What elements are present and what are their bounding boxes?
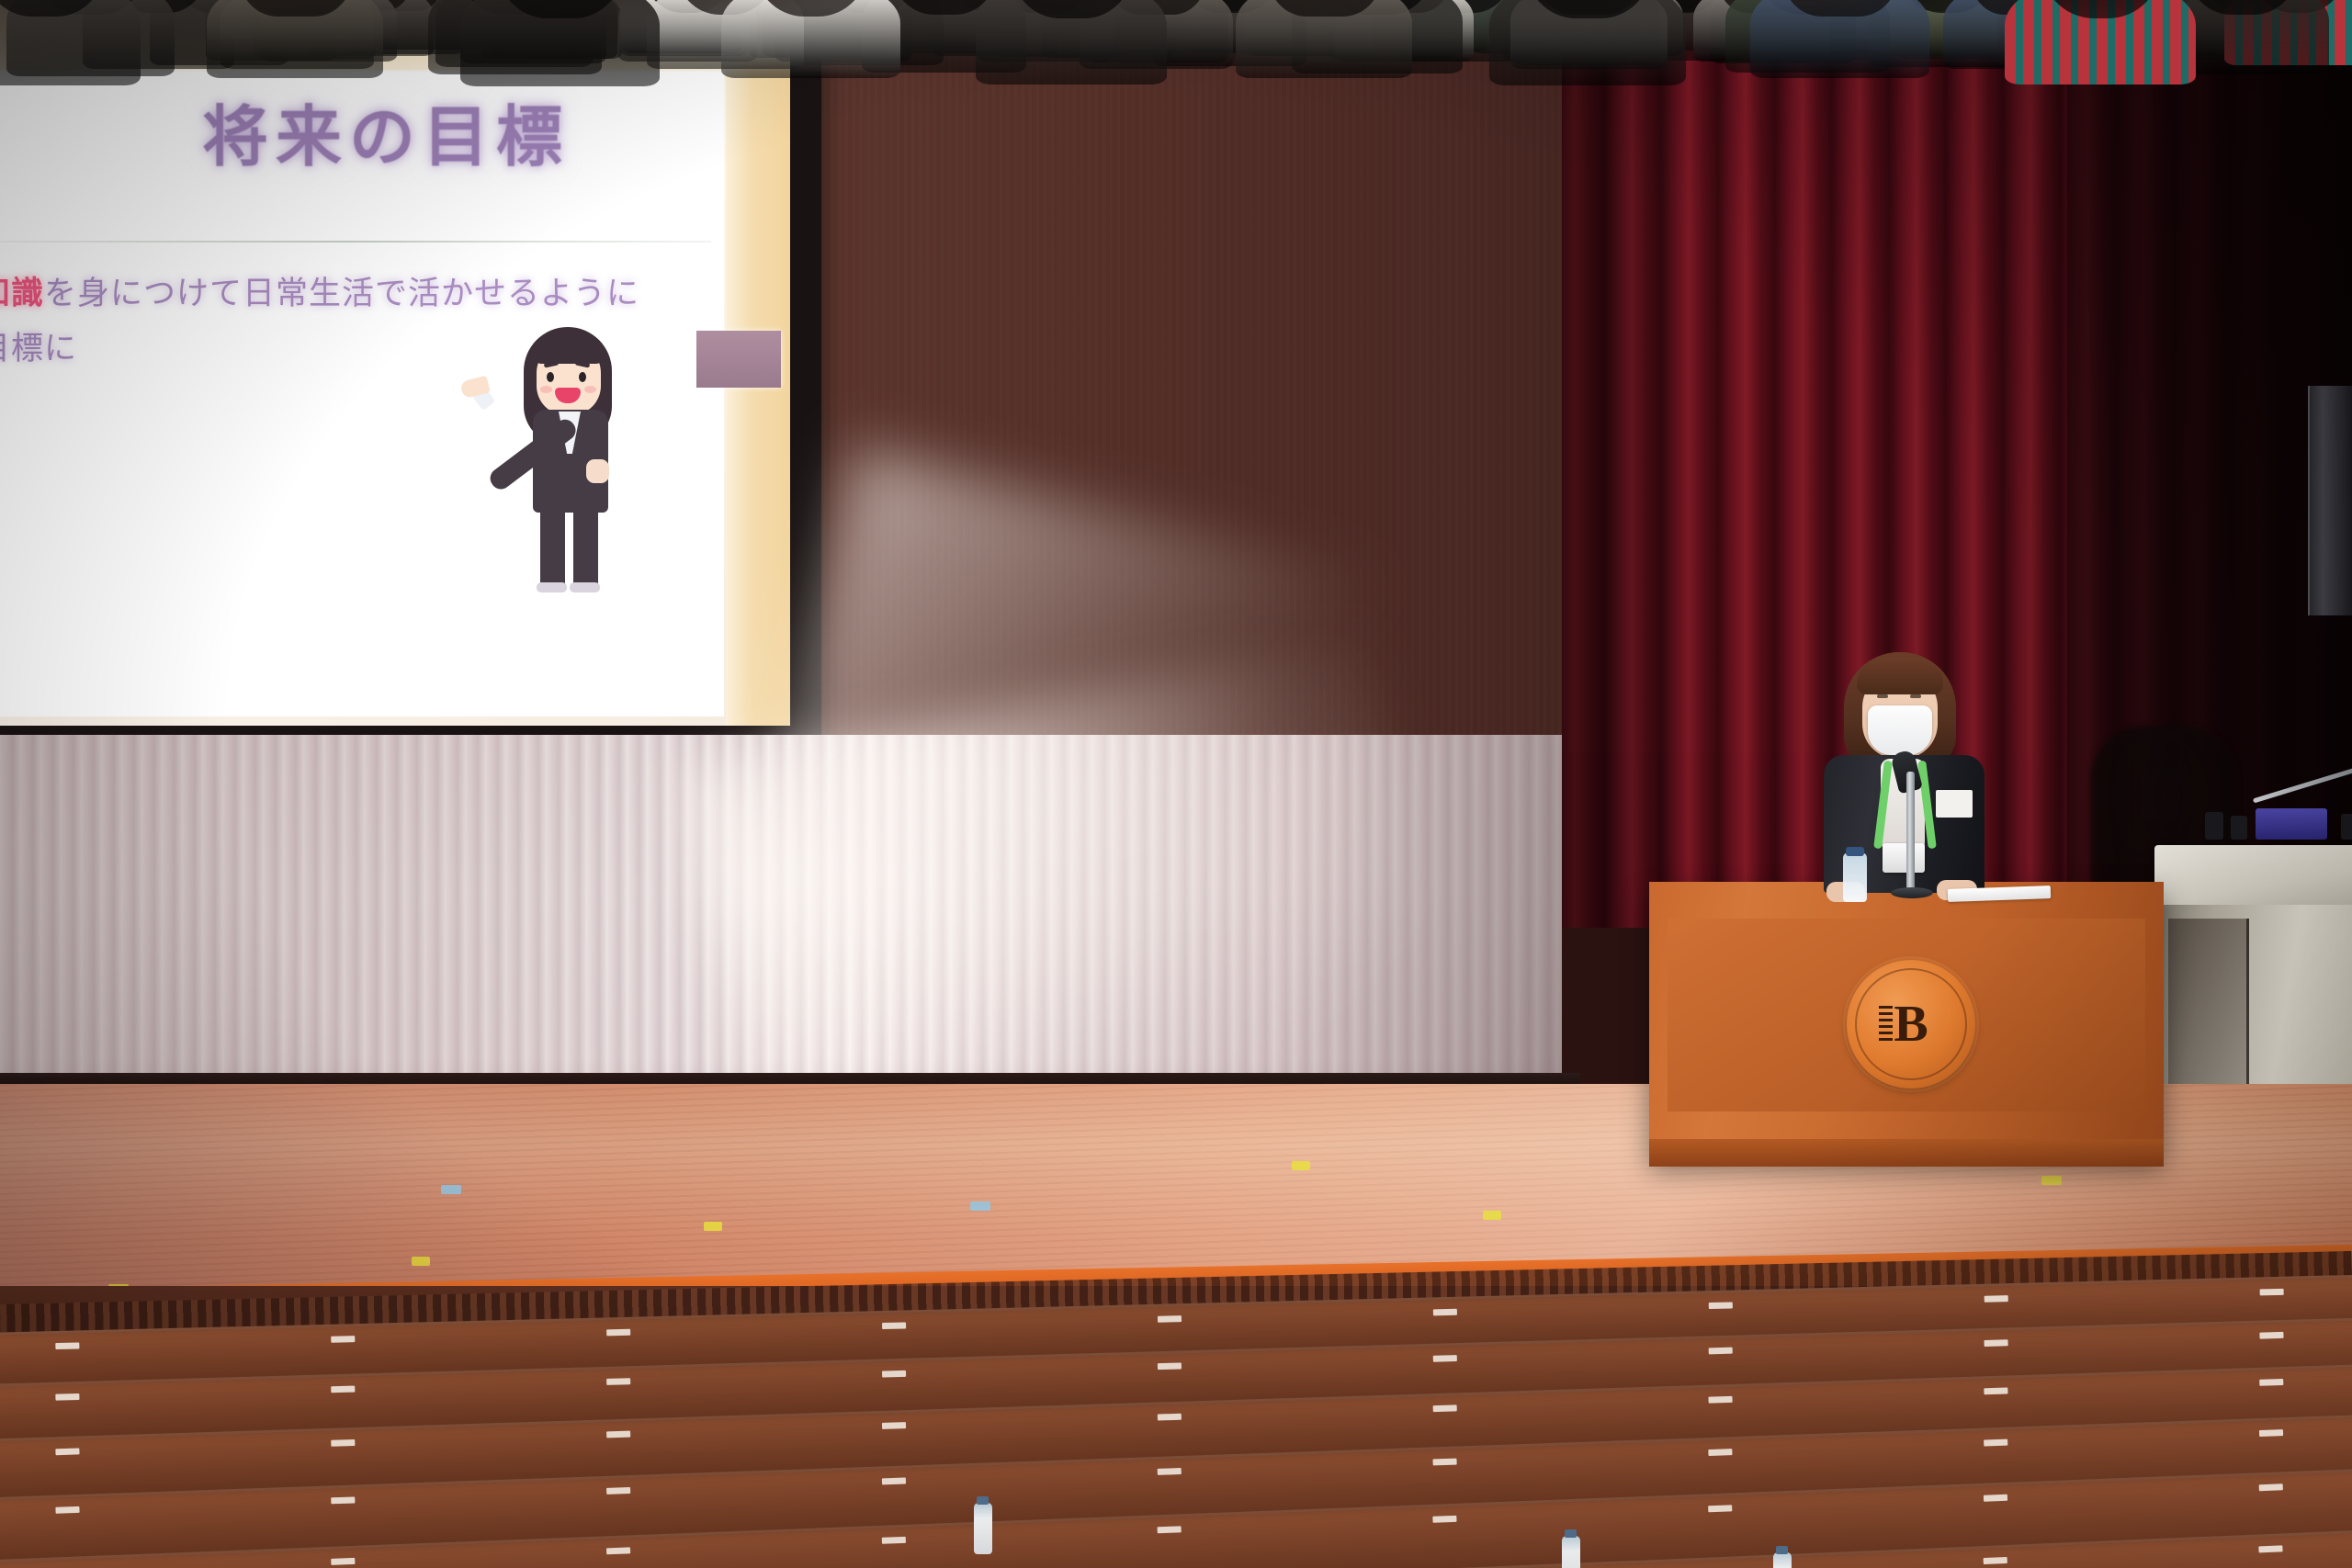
presenter-eye-right: [1910, 694, 1921, 698]
seat-number-tag: [1158, 1526, 1182, 1533]
projection-screen-frame: 将来の目標 の知識を身につけて日常生活で活かせるように を目標に: [0, 0, 821, 744]
seat-number-tag: [2259, 1379, 2283, 1386]
seat-number-tag: [882, 1322, 906, 1329]
audience-bottle-cap: [1565, 1529, 1577, 1538]
illustration-shoe-right: [570, 582, 600, 592]
seat-number-tag: [55, 1342, 79, 1349]
illustration-leg-left: [540, 505, 565, 588]
slide-body-line-1-rest: を身につけて日常生活で活かせるように: [44, 276, 639, 311]
av-lectern-top: [2154, 845, 2352, 908]
slide-divider-rule: [0, 241, 711, 243]
audience-water-bottle: [1773, 1552, 1792, 1568]
emblem-letter: B: [1894, 998, 1928, 1050]
floor-marker-blue-3: [970, 1201, 990, 1211]
illustration-shoe-left: [537, 582, 567, 592]
seat-number-tag: [1709, 1348, 1733, 1355]
illustration-eye-right: [579, 372, 586, 382]
av-lectern-glass-door[interactable]: [2168, 919, 2249, 1102]
seat-number-tag: [2259, 1332, 2283, 1339]
university-emblem: B: [1847, 960, 1975, 1089]
audience-bottle-cap: [977, 1496, 989, 1505]
seat-number-tag: [1984, 1557, 2007, 1564]
seat-number-tag: [1433, 1309, 1457, 1316]
seat-number-tag: [1432, 1516, 1456, 1523]
seat-number-tag: [1708, 1505, 1732, 1512]
microphone-base: [1891, 887, 1933, 898]
av-knob-1[interactable]: [2205, 812, 2223, 840]
seat-number-tag: [1984, 1339, 2007, 1347]
wall-speaker: [2308, 386, 2352, 615]
seat-number-tag: [331, 1496, 355, 1504]
seat-number-tag: [1709, 1302, 1733, 1309]
seat-number-tag: [331, 1439, 355, 1447]
podium-water-bottle: [1843, 852, 1867, 902]
seat-number-tag: [1158, 1414, 1182, 1421]
illustration-fist: [586, 459, 609, 483]
podium-base: [1649, 1139, 2164, 1167]
seat-number-tag: [331, 1336, 355, 1343]
seat-number-tag: [1433, 1404, 1457, 1412]
seat-number-tag: [331, 1558, 355, 1565]
seat-number-tag: [1432, 1459, 1456, 1466]
seat-number-tag: [882, 1422, 906, 1429]
seat-number-tag: [882, 1371, 906, 1378]
pointing-woman-illustration: [459, 321, 671, 597]
floor-marker-yellow-5: [1483, 1211, 1501, 1220]
audience-water-bottle: [974, 1503, 992, 1554]
seat-number-tag: [606, 1487, 630, 1495]
seat-number-tag: [1984, 1295, 2008, 1303]
seat-number-tag: [606, 1329, 630, 1337]
presenter-bangs: [1857, 658, 1943, 694]
seat-number-tag: [2259, 1429, 2283, 1437]
auditorium-photo: 将来の目標 の知識を身につけて日常生活で活かせるように を目標に: [0, 0, 2352, 1568]
seat-number-tag: [1158, 1362, 1182, 1370]
floor-marker-yellow-6: [2041, 1176, 2062, 1185]
seat-number-tag: [1158, 1315, 1182, 1323]
av-knob-3[interactable]: [2341, 814, 2352, 840]
audience-bottle-cap: [1776, 1546, 1788, 1554]
seat-number-tag: [55, 1448, 79, 1455]
seat-number-tag: [55, 1393, 79, 1401]
seat-number-tag: [1984, 1387, 2007, 1394]
illustration-cheek-left: [540, 386, 552, 393]
slide-body-line-1: の知識を身につけて日常生活で活かせるように: [0, 266, 643, 321]
seat-number-tag: [1984, 1495, 2007, 1502]
floor-marker-yellow-4: [1292, 1161, 1310, 1170]
seat-number-tag: [1158, 1468, 1182, 1475]
seat-number-tag: [2260, 1289, 2284, 1296]
presenter-face-mask: [1868, 705, 1932, 755]
seat-number-tag: [606, 1547, 630, 1554]
podium-bottle-cap: [1846, 847, 1864, 856]
seat-number-tag: [1433, 1355, 1457, 1362]
seat-number-tag: [882, 1477, 906, 1484]
seat-number-tag: [1708, 1396, 1732, 1404]
seat-number-tag: [606, 1378, 630, 1385]
illustration-leg-right: [573, 505, 598, 588]
seat-number-tag: [606, 1431, 630, 1438]
illustration-eye-left: [547, 372, 554, 382]
seat-number-tag: [1984, 1439, 2007, 1447]
projection-screen-surface: 将来の目標 の知識を身につけて日常生活で活かせるように を目標に: [0, 0, 790, 726]
seat-number-tag: [2259, 1483, 2283, 1491]
seat-number-tag: [1708, 1449, 1732, 1456]
presenter-eye-left: [1877, 694, 1888, 698]
av-monitor-screen: [2256, 808, 2327, 840]
illustration-cheek-right: [584, 386, 596, 393]
floor-marker-yellow-3: [704, 1222, 722, 1231]
floor-marker-blue-1: [441, 1185, 461, 1194]
seat-number-tag: [882, 1537, 906, 1544]
presenter-name-card: [1936, 790, 1973, 818]
floor-marker-yellow-2: [412, 1257, 430, 1266]
microphone-stand: [1906, 772, 1915, 893]
slide-title: 将来の目標: [0, 83, 790, 179]
illustration-bangs: [533, 333, 605, 364]
presenter-id-badge: [1883, 843, 1925, 873]
slide-decoration-block: [696, 331, 781, 388]
seat-number-tag: [331, 1386, 355, 1393]
audience-water-bottle: [1562, 1536, 1580, 1568]
av-knob-2[interactable]: [2231, 816, 2247, 840]
seat-number-tag: [2258, 1545, 2282, 1552]
seat-number-tag: [55, 1506, 79, 1514]
slide-highlight-text: の知識: [0, 276, 44, 311]
